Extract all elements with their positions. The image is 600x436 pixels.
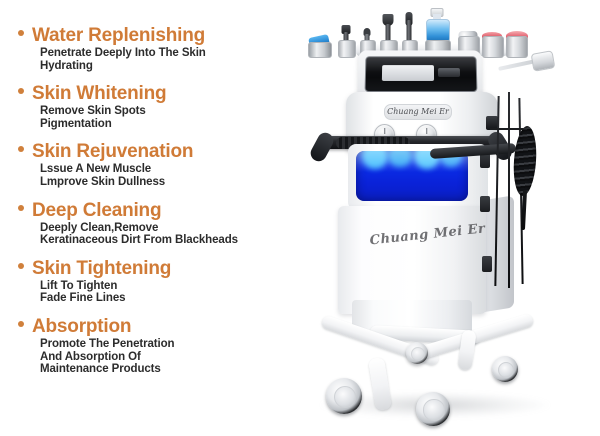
caster-hub [423,399,444,420]
console-brand-logo: Chuang Mei Er [384,104,452,120]
bullet-icon [18,205,24,211]
base-leg [368,357,392,411]
feature-heading: Absorption [18,317,320,337]
handpiece-black-probe-1 [338,22,354,58]
handpiece-holder [482,36,504,58]
feature-description: Promote The Penetration And Absorption O… [40,338,320,376]
bullet-icon [18,30,24,36]
feature-description: Penetrate Deeply Into The Skin Hydrating [40,47,320,72]
feature-item-deep-cleaning: Deep Cleaning Deeply Clean,Remove Kerati… [0,201,320,247]
bullet-icon [18,88,24,94]
trolley-base [310,320,550,410]
feature-description: Remove Skin Spots Pigmentation [40,105,320,130]
feature-description-line: Promote The Penetration [40,338,320,351]
bullet-icon [18,146,24,152]
product-feature-banner: Water Replenishing Penetrate Deeply Into… [0,0,600,436]
illuminated-water-tank [356,151,468,201]
handpiece-pink-cup-1 [482,12,502,58]
feature-item-skin-rejuvenation: Skin Rejuvenation Lssue A New Muscle Lmp… [0,142,320,188]
feature-description-line: Keratinaceous Dirt From Blackheads [40,234,320,247]
coiled-cable [512,125,539,196]
feature-description-line: Remove Skin Spots [40,105,320,118]
feature-description: Lift To Tighten Fade Fine Lines [40,280,320,305]
feature-description-line: Deeply Clean,Remove [40,222,320,235]
feature-description-line: Maintenance Products [40,363,320,376]
caster-wheel [406,342,428,364]
feature-title: Absorption [32,317,131,337]
feature-title: Skin Rejuvenation [32,142,193,162]
feature-description-line: Hydrating [40,60,320,73]
touch-screen[interactable] [365,56,478,92]
feature-description: Lssue A New Muscle Lmprove Skin Dullness [40,163,320,188]
feature-heading: Skin Whitening [18,84,320,104]
feature-item-water-replenishing: Water Replenishing Penetrate Deeply Into… [0,26,320,72]
feature-description-line: Lssue A New Muscle [40,163,320,176]
caster-wheel [326,378,362,414]
product-brand-logo: Chuang Mei Er [369,223,475,258]
feature-description-line: Fade Fine Lines [40,292,320,305]
feature-title: Water Replenishing [32,26,205,46]
coiled-cable-tail [521,190,527,230]
side-latch [482,256,492,272]
support-rod [508,92,510,288]
cabinet-body: Chuang Mei Er [338,206,486,314]
handpiece-blue-spray [308,28,330,58]
screen-bezel [357,50,482,98]
handpiece-holder [308,42,332,58]
bullet-icon [18,321,24,327]
handpiece-pink-cup-2 [506,16,528,58]
feature-description-line: Penetrate Deeply Into The Skin [40,47,320,60]
feature-heading: Water Replenishing [18,26,320,46]
caster-hub [411,347,425,361]
caster-wheel [492,356,518,382]
feature-title: Skin Whitening [32,84,166,104]
feature-item-absorption: Absorption Promote The Penetration And A… [0,317,320,376]
handpiece-holder [506,36,528,58]
caster-hub [334,386,356,408]
screen-glare [366,57,476,72]
feature-title: Deep Cleaning [32,201,161,221]
caster-wheel [416,392,450,426]
feature-description-line: Lmprove Skin Dullness [40,176,320,189]
product-image: Chuang Mei Er Chuang Mei Er [300,0,600,436]
feature-description-line: And Absorption Of [40,351,320,364]
feature-heading: Skin Rejuvenation [18,142,320,162]
feature-heading: Skin Tightening [18,259,320,279]
feature-description-line: Lift To Tighten [40,280,320,293]
feature-description-line: Pigmentation [40,118,320,131]
caster-hub [498,362,515,379]
handpiece-holder [338,40,356,58]
feature-heading: Deep Cleaning [18,201,320,221]
feature-description: Deeply Clean,Remove Keratinaceous Dirt F… [40,222,320,247]
feature-list: Water Replenishing Penetrate Deeply Into… [0,0,320,436]
feature-item-skin-tightening: Skin Tightening Lift To Tighten Fade Fin… [0,259,320,305]
side-latch [480,196,490,212]
bullet-icon [18,263,24,269]
side-handpiece-head [531,50,556,72]
feature-item-skin-whitening: Skin Whitening Remove Skin Spots Pigment… [0,84,320,130]
feature-title: Skin Tightening [32,259,171,279]
